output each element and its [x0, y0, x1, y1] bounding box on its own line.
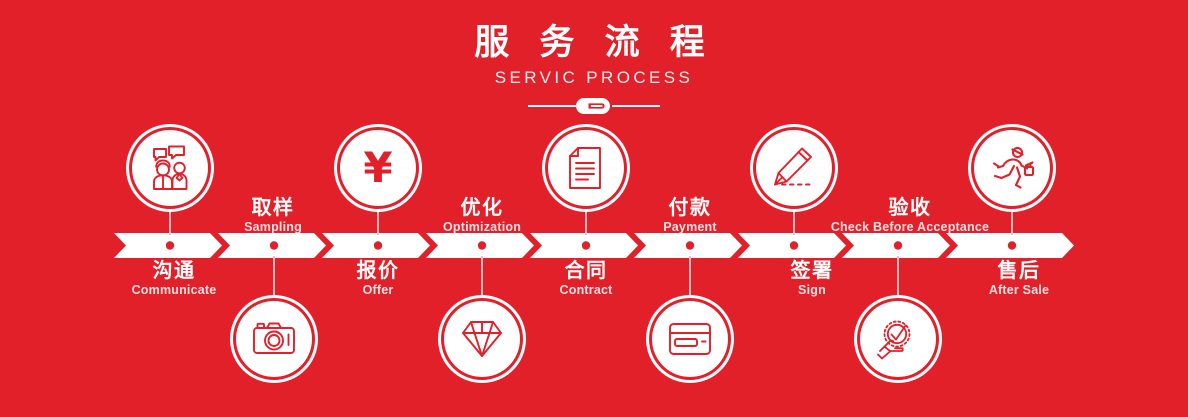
step-icon-circle-5[interactable] — [548, 130, 624, 206]
step-label-7-cn: 签署 — [756, 259, 868, 281]
running-delivery-person-icon — [989, 147, 1035, 189]
diamond-gem-icon — [460, 317, 504, 361]
step-icon-circle-4[interactable] — [444, 301, 520, 377]
page-title-chinese: 服 务 流 程 — [0, 26, 1188, 61]
connector-stem-2 — [273, 256, 275, 296]
connector-stem-9 — [1011, 205, 1013, 235]
step-label-2: 取样 Sampling — [208, 196, 338, 235]
step-label-9-cn: 售后 — [960, 259, 1078, 281]
pencil-signature-icon — [771, 146, 817, 190]
step-label-4: 优化 Optimization — [420, 196, 544, 235]
step-label-6-cn: 付款 — [637, 196, 743, 218]
step-label-2-en: Sampling — [208, 220, 338, 235]
step-label-3: 报价 Offer — [322, 259, 434, 298]
step-icon-circle-1[interactable] — [132, 130, 208, 206]
step-label-5-en: Contract — [530, 283, 642, 298]
camera-icon — [252, 317, 296, 361]
page-title-english: SERVIC PROCESS — [0, 68, 1188, 88]
paperclip-divider-ornament-icon — [528, 98, 660, 114]
connector-stem-7 — [793, 205, 795, 235]
step-label-6: 付款 Payment — [637, 196, 743, 235]
step-label-1: 沟通 Communicate — [109, 259, 239, 298]
step-icon-circle-9[interactable] — [974, 130, 1050, 206]
step-label-6-en: Payment — [637, 220, 743, 235]
step-label-5-cn: 合同 — [530, 259, 642, 281]
step-label-8-en: Check Before Acceptance — [826, 220, 994, 235]
credit-card-icon — [668, 322, 712, 356]
step-label-3-cn: 报价 — [322, 259, 434, 281]
step-label-2-cn: 取样 — [208, 196, 338, 218]
connector-stem-6 — [689, 256, 691, 296]
step-label-4-en: Optimization — [420, 220, 544, 235]
document-contract-icon — [566, 146, 606, 190]
step-label-1-en: Communicate — [109, 283, 239, 298]
step-label-4-cn: 优化 — [420, 196, 544, 218]
step-icon-circle-6[interactable] — [652, 301, 728, 377]
step-label-8-cn: 验收 — [826, 196, 994, 218]
people-speech-bubbles-icon — [147, 145, 193, 191]
step-label-9-en: After Sale — [960, 283, 1078, 298]
connector-stem-5 — [585, 205, 587, 235]
step-icon-circle-7[interactable] — [756, 130, 832, 206]
connector-stem-8 — [897, 256, 899, 296]
infographic-canvas: 服 务 流 程 SERVIC PROCESS — [0, 0, 1188, 417]
connector-stem-1 — [169, 205, 171, 235]
yen-currency-icon: ¥ — [363, 147, 392, 189]
step-label-5: 合同 Contract — [530, 259, 642, 298]
step-icon-circle-2[interactable] — [236, 301, 312, 377]
step-label-7: 签署 Sign — [756, 259, 868, 298]
step-label-1-cn: 沟通 — [109, 259, 239, 281]
hand-check-badge-icon — [876, 317, 920, 361]
step-label-8: 验收 Check Before Acceptance — [826, 196, 994, 235]
step-label-7-en: Sign — [756, 283, 868, 298]
step-icon-circle-8[interactable] — [860, 301, 936, 377]
step-label-9: 售后 After Sale — [960, 259, 1078, 298]
connector-stem-4 — [481, 256, 483, 296]
chevron-arrow-track-icon — [114, 233, 1074, 258]
step-icon-circle-3[interactable]: ¥ — [340, 130, 416, 206]
step-label-3-en: Offer — [322, 283, 434, 298]
header: 服 务 流 程 SERVIC PROCESS — [0, 0, 1188, 114]
connector-stem-3 — [377, 205, 379, 235]
